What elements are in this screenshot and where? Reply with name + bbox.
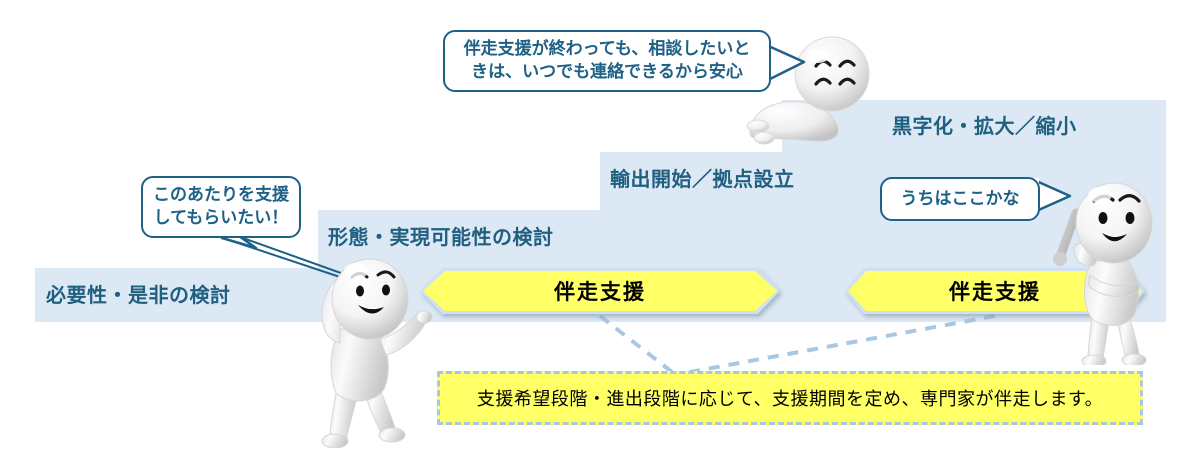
speech-bubble-right-line-1: うちはここかな (901, 188, 1020, 211)
stage-label-necessity: 必要性・是非の検討 (46, 279, 231, 308)
note-text: 支援希望段階・進出段階に応じて、支援期間を定め、専門家が伴走します。 (477, 385, 1103, 411)
chevron-support-1[interactable]: 伴走支援 (420, 268, 780, 314)
chevron-label-1: 伴走支援 (554, 276, 646, 306)
stage-label-profitability: 黒字化・拡大／縮小 (892, 110, 1077, 139)
diagram-canvas: 必要性・是非の検討 形態・実現可能性の検討 輸出開始／拠点設立 黒字化・拡大／縮… (0, 0, 1200, 450)
character-with-pointer (1048, 165, 1178, 365)
speech-bubble-top: 伴走支援が終わっても、相談したいと きは、いつでも連絡できるから安心 (443, 30, 771, 92)
character-scratching-head (300, 243, 450, 448)
chevron-fill-1: 伴走支援 (423, 271, 777, 311)
speech-bubble-right: うちはここかな (880, 177, 1040, 221)
speech-bubble-top-line-2: きは、いつでも連絡できるから安心 (471, 61, 743, 84)
stage-label-export-start: 輸出開始／拠点設立 (610, 163, 795, 192)
connector-left (600, 316, 672, 372)
speech-bubble-left: このあたりを支援 してもらいたい！ (141, 176, 301, 238)
chevron-label-2: 伴走支援 (949, 276, 1041, 306)
note-box: 支援希望段階・進出段階に応じて、支援期間を定め、専門家が伴走します。 (437, 371, 1143, 425)
connector-right (690, 316, 995, 372)
speech-bubble-top-line-1: 伴走支援が終わっても、相談したいと (464, 38, 751, 61)
chevron-outline-1: 伴走支援 (420, 268, 780, 314)
speech-bubble-left-line-2: してもらいたい！ (154, 207, 289, 230)
speech-bubble-left-line-1: このあたりを支援 (153, 184, 289, 207)
